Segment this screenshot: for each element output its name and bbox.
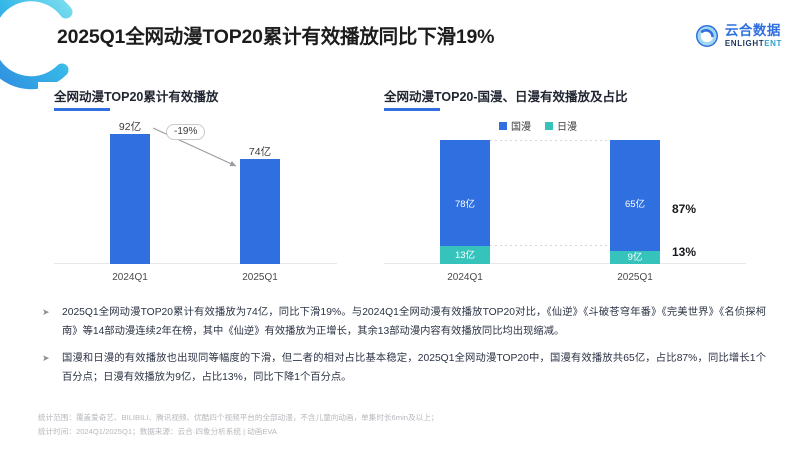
chart-guoman-riman: 78亿 13亿 65亿 9亿 87% 13% 2024Q1 2025Q1 xyxy=(384,140,746,264)
bar-value-2025q1-riman: 9亿 xyxy=(610,249,660,263)
footnote-line-source: 统计时间：2024Q1/2025Q1；数据来源：云合·四象分析系统 | 动画EV… xyxy=(38,425,738,438)
panel-title-right: 全网动漫TOP20-国漫、日漫有效播放及占比 xyxy=(384,86,628,105)
xaxis-label-2024q1: 2024Q1 xyxy=(95,272,165,283)
logo-text-en: ENLIGHTENT xyxy=(725,40,782,48)
bar-2024q1-guoman[interactable] xyxy=(440,140,490,246)
list-item: ➤ 2025Q1全网动漫TOP20累计有效播放为74亿，同比下滑19%。与202… xyxy=(38,303,766,341)
logo-text-en-part1: ENLIGHT xyxy=(725,39,764,48)
panel-underline-right xyxy=(384,108,440,111)
panel-guoman-riman: 全网动漫TOP20-国漫、日漫有效播放及占比 国漫 日漫 78亿 13亿 xyxy=(368,82,762,290)
bullet-arrow-icon: ➤ xyxy=(42,304,50,321)
legend-swatch-riman-icon xyxy=(545,122,553,130)
legend-item-riman[interactable]: 日漫 xyxy=(545,118,577,133)
bar-2024q1[interactable] xyxy=(110,134,150,264)
logo-ring-icon xyxy=(695,24,719,48)
insight-list: ➤ 2025Q1全网动漫TOP20累计有效播放为74亿，同比下滑19%。与202… xyxy=(38,303,766,395)
bar-2025q1[interactable] xyxy=(240,159,280,264)
xaxis-label-2025q1: 2025Q1 xyxy=(225,272,295,283)
chart-legend: 国漫 日漫 xyxy=(368,118,708,133)
xaxis-label-right-2024q1: 2024Q1 xyxy=(430,272,500,283)
legend-item-guoman[interactable]: 国漫 xyxy=(499,118,531,133)
annotation-decline-pct: -19% xyxy=(166,124,205,140)
chart-total-playback: 92亿 74亿 -19% 2024Q1 2025Q1 xyxy=(54,122,337,264)
page-title: 2025Q1全网动漫TOP20累计有效播放同比下滑19% xyxy=(57,20,494,49)
brand-logo: 云合数据 ENLIGHTENT xyxy=(695,24,782,48)
list-item-text: 2025Q1全网动漫TOP20累计有效播放为74亿，同比下滑19%。与2024Q… xyxy=(62,307,766,337)
logo-text: 云合数据 ENLIGHTENT xyxy=(725,24,782,48)
slide-root: 2025Q1全网动漫TOP20累计有效播放同比下滑19% 云合数据 ENLIGH… xyxy=(0,0,800,450)
pct-label-guoman: 87% xyxy=(672,202,696,216)
bullet-arrow-icon: ➤ xyxy=(42,350,50,367)
bar-value-2024q1-riman: 13亿 xyxy=(440,247,490,261)
legend-label-riman: 日漫 xyxy=(557,118,577,133)
legend-label-guoman: 国漫 xyxy=(511,118,531,133)
legend-swatch-guoman-icon xyxy=(499,122,507,130)
footnote: 统计范围：覆盖爱奇艺、BILIBILI、腾讯视频、优酷四个视频平台的全部动漫，不… xyxy=(38,411,738,438)
footnote-line-scope: 统计范围：覆盖爱奇艺、BILIBILI、腾讯视频、优酷四个视频平台的全部动漫，不… xyxy=(38,411,738,424)
panel-underline-left xyxy=(54,108,110,111)
logo-text-en-part2: ENT xyxy=(764,39,782,48)
list-item-text: 国漫和日漫的有效播放也出现同等幅度的下滑，但二者的相对占比基本稳定，2025Q1… xyxy=(62,353,766,383)
xaxis-label-right-2025q1: 2025Q1 xyxy=(600,272,670,283)
panel-total-playback: 全网动漫TOP20累计有效播放 92亿 74亿 -19% 2024Q1 xyxy=(38,82,353,290)
bar-value-2024q1-guoman: 78亿 xyxy=(440,196,490,210)
list-item: ➤ 国漫和日漫的有效播放也出现同等幅度的下滑，但二者的相对占比基本稳定，2025… xyxy=(38,349,766,387)
logo-text-cn: 云合数据 xyxy=(725,24,782,38)
pct-label-riman: 13% xyxy=(672,245,696,259)
bar-value-2025q1-guoman: 65亿 xyxy=(610,196,660,210)
panel-title-left: 全网动漫TOP20累计有效播放 xyxy=(54,86,218,105)
header: 2025Q1全网动漫TOP20累计有效播放同比下滑19% 云合数据 ENLIGH… xyxy=(0,0,800,70)
